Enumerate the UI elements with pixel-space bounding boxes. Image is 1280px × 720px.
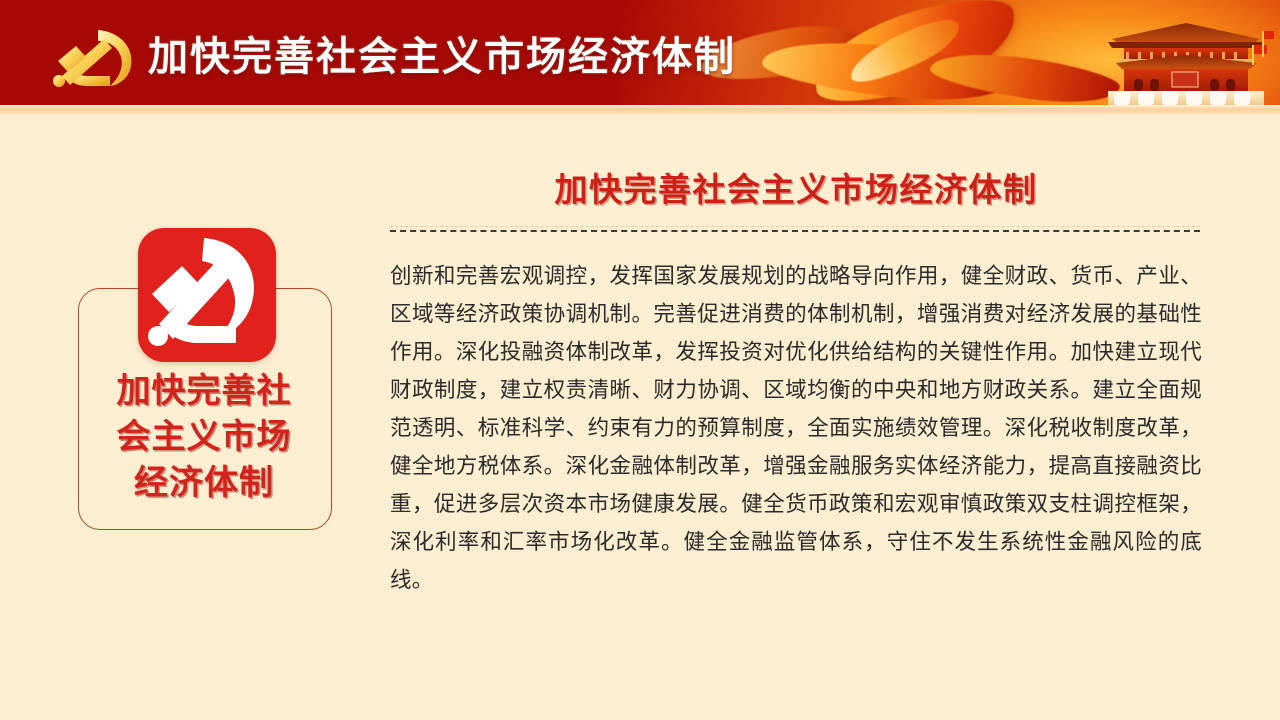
content-area: 加快完善社会主义市场经济体制 创新和完善宏观调控，发挥国家发展规划的战略导向作用… — [390, 168, 1202, 600]
cpc-hammer-sickle-icon — [46, 26, 142, 92]
slide-root: 加快完善社会主义市场经济体制 加快完善社 会主义市场 经济体制 加快完 — [0, 0, 1280, 720]
header-accent-band — [0, 105, 1280, 116]
cpc-hammer-sickle-icon — [138, 228, 276, 362]
page-title: 加快完善社会主义市场经济体制 — [148, 24, 736, 82]
left-summary-title-line: 加快完善社 — [78, 368, 330, 414]
left-summary-title-line: 会主义市场 — [78, 414, 330, 460]
content-title: 加快完善社会主义市场经济体制 — [390, 168, 1202, 212]
tiananmen-gate-icon — [1094, 9, 1274, 105]
content-divider — [390, 230, 1200, 236]
left-summary-title: 加快完善社 会主义市场 经济体制 — [78, 368, 330, 506]
content-body-text: 创新和完善宏观调控，发挥国家发展规划的战略导向作用，健全财政、货币、产业、区域等… — [390, 258, 1202, 600]
left-summary-title-line: 经济体制 — [78, 460, 330, 506]
page-header: 加快完善社会主义市场经济体制 — [0, 0, 1280, 105]
